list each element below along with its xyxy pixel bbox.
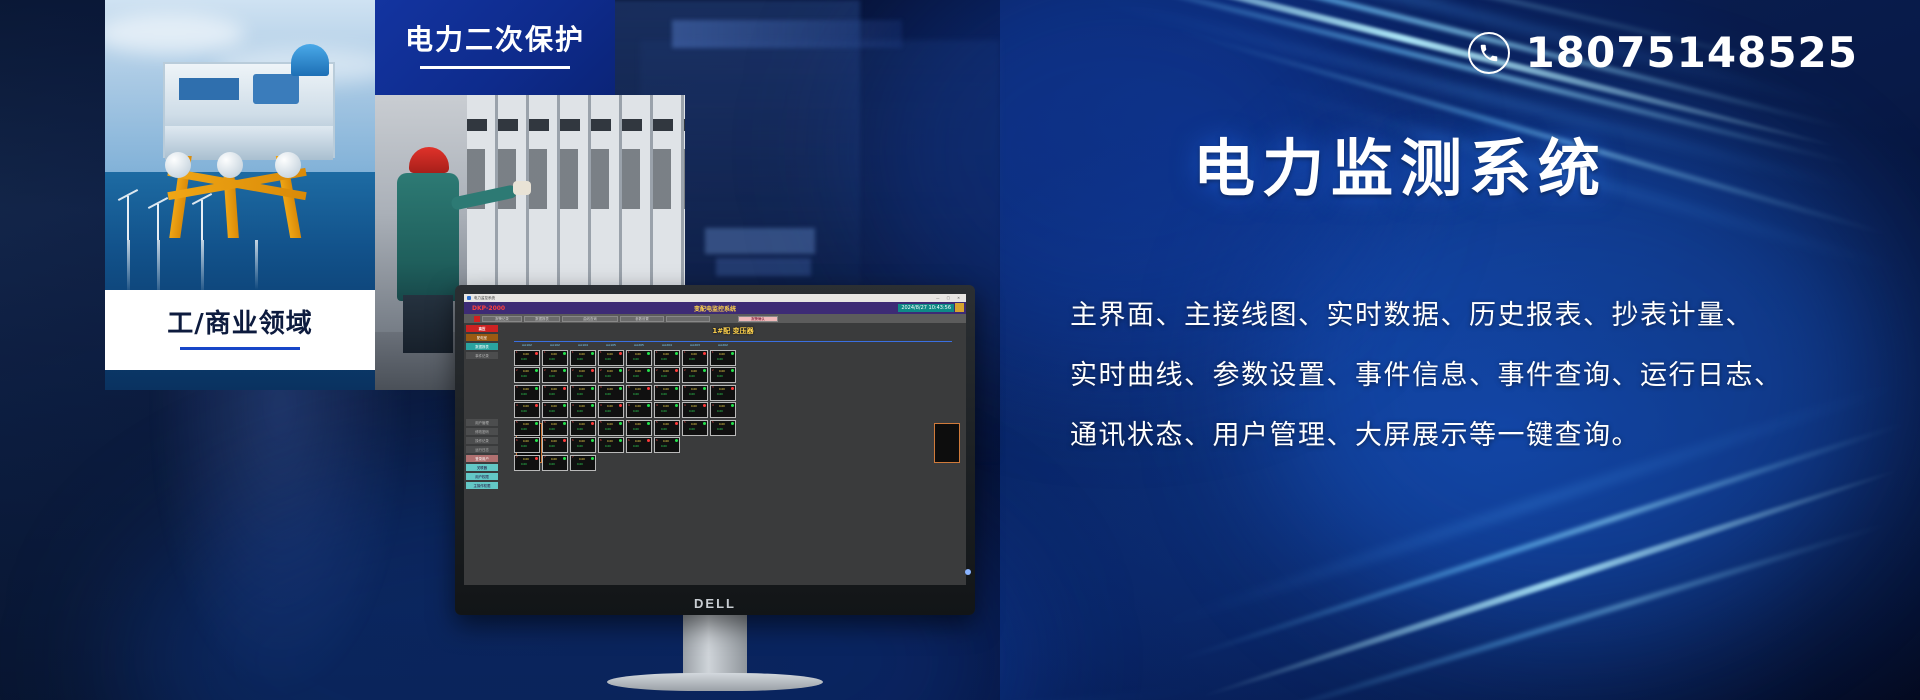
- status-led-icon: [563, 457, 566, 460]
- phone-icon: [1468, 32, 1510, 74]
- device-cell-index: 7: [544, 456, 546, 459]
- device-cell-value: 0.00: [633, 410, 639, 413]
- device-cell[interactable]: 60.000.00: [598, 437, 624, 453]
- status-led-icon: [647, 387, 650, 390]
- device-cell-value: 0.00: [551, 370, 557, 373]
- device-cell-value: 0.00: [691, 405, 697, 408]
- device-cell[interactable]: 30.000.00: [710, 385, 736, 401]
- device-cell[interactable]: 10.000.00: [682, 350, 708, 366]
- device-cell-index: 3: [712, 386, 714, 389]
- device-cell-value: 0.00: [635, 370, 641, 373]
- device-cell-index: 2: [600, 369, 602, 372]
- device-cell-value: 0.00: [717, 428, 723, 431]
- status-led-icon: [675, 404, 678, 407]
- device-cell-index: 1: [544, 351, 546, 354]
- device-cell-index: 2: [684, 369, 686, 372]
- device-column: AA10510.000.0020.000.0030.000.0040.000.0…: [598, 343, 624, 471]
- sidebar-item-change-password[interactable]: 修改密码: [466, 428, 498, 435]
- power-led-icon: [965, 569, 971, 575]
- monitor-brand-label: DELL: [455, 596, 975, 611]
- status-led-icon: [591, 387, 594, 390]
- device-cell-value: 0.00: [663, 405, 669, 408]
- scada-menubar[interactable]: 报警记录 数据报表 曲线查询 参数设置 报警确认: [464, 314, 966, 323]
- device-cell-index: 2: [516, 369, 518, 372]
- status-led-icon: [703, 404, 706, 407]
- device-cell-index: 1: [712, 351, 714, 354]
- status-led-icon: [619, 387, 622, 390]
- device-cell-index: 6: [572, 439, 574, 442]
- device-cell[interactable]: 40.000.00: [626, 402, 652, 418]
- wind-turbine: [201, 200, 203, 240]
- diagram-title: 1#配 变压器: [500, 323, 966, 336]
- device-cell-value: 0.00: [691, 423, 697, 426]
- sidebar-item-user-permission[interactable]: 用户权限: [466, 473, 498, 480]
- device-cell-value: 0.00: [579, 405, 585, 408]
- device-cell[interactable]: 20.000.00: [598, 367, 624, 383]
- device-cell-value: 0.00: [633, 375, 639, 378]
- device-cell[interactable]: 50.000.00: [654, 420, 680, 436]
- device-column: AA20210.000.0020.000.0030.000.0040.000.0…: [710, 343, 736, 471]
- device-column: AA10210.000.0020.000.0030.000.0040.000.0…: [514, 343, 540, 471]
- system-name: 变配电监控系统: [694, 304, 736, 313]
- device-cell[interactable]: 50.000.00: [710, 420, 736, 436]
- device-cell-index: 1: [684, 351, 686, 354]
- label-secondary-protection-text: 电力二次保护: [405, 26, 585, 54]
- device-column-tag: AA104: [570, 343, 596, 347]
- status-led-icon: [647, 369, 650, 372]
- wind-turbine: [157, 204, 159, 240]
- device-cell-value: 0.00: [523, 405, 529, 408]
- device-cell[interactable]: 30.000.00: [654, 385, 680, 401]
- menu-item[interactable]: 数据报表: [524, 316, 560, 322]
- device-cell[interactable]: 60.000.00: [514, 437, 540, 453]
- status-led-icon: [703, 352, 706, 355]
- status-led-icon: [563, 404, 566, 407]
- device-cell-index: 6: [600, 439, 602, 442]
- device-cell-value: 0.00: [549, 445, 555, 448]
- status-led-icon: [731, 404, 734, 407]
- platform-float: [165, 152, 191, 178]
- device-cell[interactable]: 30.000.00: [570, 385, 596, 401]
- scada-sidebar[interactable]: 高压 配电室 数据报表 事件记录 用户管理 修改密码 操作记录 运行日志 登录用…: [464, 323, 500, 585]
- window-controls[interactable]: — □ ✕: [936, 296, 963, 300]
- device-cell-value: 0.00: [523, 440, 529, 443]
- device-column-tag: AA203: [682, 343, 708, 347]
- device-column-tag: AA102: [514, 343, 540, 347]
- status-led-icon: [591, 439, 594, 442]
- device-cell-index: 4: [544, 404, 546, 407]
- scada-application: 电力监控系统 — □ ✕ DKP-2000 变配电监控系统 2024/8/27 …: [464, 294, 966, 585]
- sidebar-item-data-report[interactable]: 数据报表: [466, 343, 498, 350]
- status-led-icon: [535, 369, 538, 372]
- sidebar-item-user-management[interactable]: 用户管理: [466, 419, 498, 426]
- status-led-icon: [619, 369, 622, 372]
- device-cell[interactable]: 40.000.00: [654, 402, 680, 418]
- device-cell-index: 4: [628, 404, 630, 407]
- device-cell[interactable]: 50.000.00: [514, 420, 540, 436]
- device-cell-value: 0.00: [607, 353, 613, 356]
- device-cell[interactable]: 10.000.00: [570, 350, 596, 366]
- device-cell[interactable]: 30.000.00: [598, 385, 624, 401]
- device-cell-index: 1: [572, 351, 574, 354]
- device-cell-value: 0.00: [635, 423, 641, 426]
- status-led-icon: [535, 439, 538, 442]
- device-cell[interactable]: 40.000.00: [542, 402, 568, 418]
- device-cell-value: 0.00: [691, 388, 697, 391]
- datetime-display: 2024/8/27 10:43:56: [898, 304, 954, 312]
- device-cell-index: 4: [572, 404, 574, 407]
- scada-window-titlebar: 电力监控系统 — □ ✕: [464, 294, 966, 302]
- status-led-icon: [591, 404, 594, 407]
- device-cell-index: 3: [656, 386, 658, 389]
- device-cell-value: 0.00: [661, 358, 667, 361]
- device-cell-index: 2: [628, 369, 630, 372]
- status-led-icon: [647, 404, 650, 407]
- device-cell[interactable]: 70.000.00: [570, 455, 596, 471]
- device-cell-value: 0.00: [577, 463, 583, 466]
- device-cell-index: 3: [628, 386, 630, 389]
- device-cell-index: 2: [712, 369, 714, 372]
- sidebar-spacer: [466, 361, 498, 419]
- device-cell-value: 0.00: [635, 388, 641, 391]
- app-icon: [467, 296, 471, 300]
- device-cell-value: 0.00: [719, 388, 725, 391]
- device-cell-value: 0.00: [577, 358, 583, 361]
- company-logo: [955, 303, 964, 312]
- sidebar-item-run-log[interactable]: 运行日志: [466, 446, 498, 453]
- device-cell-value: 0.00: [523, 370, 529, 373]
- device-cell-index: 2: [544, 369, 546, 372]
- device-cell-index: 2: [656, 369, 658, 372]
- device-cell-value: 0.00: [607, 405, 613, 408]
- device-cell[interactable]: 20.000.00: [626, 367, 652, 383]
- status-led-icon: [731, 369, 734, 372]
- device-cell-index: 4: [712, 404, 714, 407]
- device-cell-value: 0.00: [577, 445, 583, 448]
- worker-body: [397, 173, 459, 301]
- device-cell[interactable]: 40.000.00: [682, 402, 708, 418]
- device-cell[interactable]: 20.000.00: [654, 367, 680, 383]
- device-cell-value: 0.00: [661, 428, 667, 431]
- status-led-icon: [647, 352, 650, 355]
- monitor-stand-base: [607, 673, 823, 691]
- worker-hand: [513, 181, 531, 195]
- status-led-icon: [675, 439, 678, 442]
- device-cell-value: 0.00: [635, 353, 641, 356]
- device-cell-value: 0.00: [689, 428, 695, 431]
- device-cell[interactable]: 50.000.00: [598, 420, 624, 436]
- page-title: 电力监测系统: [1193, 118, 1607, 208]
- device-cell-value: 0.00: [717, 393, 723, 396]
- device-cell[interactable]: 20.000.00: [570, 367, 596, 383]
- device-cell-value: 0.00: [579, 423, 585, 426]
- status-led-icon: [731, 422, 734, 425]
- device-cell-value: 0.00: [663, 370, 669, 373]
- status-led-icon: [563, 369, 566, 372]
- device-cell-index: 4: [600, 404, 602, 407]
- menu-item[interactable]: 报警记录: [482, 316, 522, 322]
- device-cell[interactable]: 70.000.00: [542, 455, 568, 471]
- device-cell-value: 0.00: [523, 458, 529, 461]
- device-cell-index: 5: [600, 421, 602, 424]
- device-cell[interactable]: 60.000.00: [626, 437, 652, 453]
- water-reflection: [127, 240, 130, 296]
- monitor-mockup: 电力监控系统 — □ ✕ DKP-2000 变配电监控系统 2024/8/27 …: [455, 285, 975, 615]
- device-cell-value: 0.00: [605, 445, 611, 448]
- device-cell-value: 0.00: [635, 440, 641, 443]
- device-cell-value: 0.00: [521, 375, 527, 378]
- device-cell[interactable]: 40.000.00: [570, 402, 596, 418]
- device-cell-value: 0.00: [579, 370, 585, 373]
- device-cell-value: 0.00: [521, 358, 527, 361]
- device-cell-value: 0.00: [607, 440, 613, 443]
- status-led-icon: [647, 422, 650, 425]
- device-cell-index: 5: [712, 421, 714, 424]
- device-cell-value: 0.00: [607, 370, 613, 373]
- device-cell-value: 0.00: [605, 428, 611, 431]
- device-cell-value: 0.00: [521, 410, 527, 413]
- monitor-stand-neck: [683, 615, 747, 677]
- status-led-icon: [535, 404, 538, 407]
- device-cell-value: 0.00: [691, 353, 697, 356]
- device-column: AA10210.000.0020.000.0030.000.0040.000.0…: [542, 343, 568, 471]
- device-cell[interactable]: 30.000.00: [514, 385, 540, 401]
- device-cell-value: 0.00: [689, 375, 695, 378]
- device-cell-value: 0.00: [521, 428, 527, 431]
- feature-description: 主界面、主接线图、实时数据、历史报表、抄表计量、 实时曲线、参数设置、事件信息、…: [1070, 286, 1870, 466]
- status-led-icon: [535, 457, 538, 460]
- status-led-icon: [563, 387, 566, 390]
- platform-float: [217, 152, 243, 178]
- device-cell-value: 0.00: [717, 375, 723, 378]
- sidebar-item-operation-record[interactable]: 操作记录: [466, 437, 498, 444]
- device-cell-index: 7: [572, 456, 574, 459]
- device-cell-value: 0.00: [633, 358, 639, 361]
- device-cell-value: 0.00: [579, 458, 585, 461]
- device-cell[interactable]: 30.000.00: [682, 385, 708, 401]
- device-cell[interactable]: 10.000.00: [598, 350, 624, 366]
- device-cell-value: 0.00: [577, 375, 583, 378]
- device-cell[interactable]: 60.000.00: [542, 437, 568, 453]
- device-cell-value: 0.00: [719, 353, 725, 356]
- device-cell-index: 4: [656, 404, 658, 407]
- device-cell-index: 1: [656, 351, 658, 354]
- device-column-tag: AA102: [542, 343, 568, 347]
- device-cell-value: 0.00: [663, 388, 669, 391]
- device-cell[interactable]: 10.000.00: [626, 350, 652, 366]
- platform-structure: [163, 62, 335, 158]
- label-secondary-protection: 电力二次保护: [375, 0, 615, 95]
- label-underline: [420, 66, 570, 69]
- menu-item[interactable]: 曲线查询: [562, 316, 618, 322]
- device-cell[interactable]: 10.000.00: [710, 350, 736, 366]
- sidebar-item-event-log[interactable]: 事件记录: [466, 352, 498, 359]
- device-cell[interactable]: 60.000.00: [570, 437, 596, 453]
- device-cell[interactable]: 40.000.00: [598, 402, 624, 418]
- device-cell[interactable]: 20.000.00: [710, 367, 736, 383]
- sidebar-item-device[interactable]: 关联器: [466, 464, 498, 471]
- platform-panel: [179, 78, 239, 100]
- status-led-icon: [647, 439, 650, 442]
- device-cell-index: 4: [516, 404, 518, 407]
- phone-number: 18075148525: [1526, 28, 1858, 77]
- device-cell-value: 0.00: [661, 445, 667, 448]
- sidebar-item-high-voltage[interactable]: 高压: [466, 325, 498, 332]
- menu-item[interactable]: 报警确认: [738, 316, 778, 322]
- device-cell[interactable]: 50.000.00: [626, 420, 652, 436]
- device-cell-value: 0.00: [551, 388, 557, 391]
- device-cell-index: 7: [516, 456, 518, 459]
- device-cell-value: 0.00: [661, 375, 667, 378]
- scada-window-title: 电力监控系统: [474, 296, 495, 301]
- device-cell-value: 0.00: [577, 410, 583, 413]
- device-cell-value: 0.00: [661, 393, 667, 396]
- status-led-icon: [731, 352, 734, 355]
- device-cell-value: 0.00: [579, 388, 585, 391]
- device-cell-value: 0.00: [605, 358, 611, 361]
- sidebar-item-distribution-room[interactable]: 配电室: [466, 334, 498, 341]
- device-cell-value: 0.00: [551, 423, 557, 426]
- device-cell-value: 0.00: [663, 353, 669, 356]
- status-led-icon: [619, 404, 622, 407]
- device-cell-index: 1: [516, 351, 518, 354]
- status-led-icon: [591, 369, 594, 372]
- device-cell-value: 0.00: [689, 358, 695, 361]
- device-cell-value: 0.00: [663, 440, 669, 443]
- device-cell[interactable]: 40.000.00: [710, 402, 736, 418]
- scada-body: 高压 配电室 数据报表 事件记录 用户管理 修改密码 操作记录 运行日志 登录用…: [464, 323, 966, 585]
- sidebar-item-main-permission[interactable]: 主操作权限: [466, 482, 498, 489]
- device-cell-index: 6: [656, 439, 658, 442]
- device-cell-value: 0.00: [579, 353, 585, 356]
- device-cell-index: 3: [572, 386, 574, 389]
- device-cell-value: 0.00: [717, 358, 723, 361]
- label-industrial: 工/商业领域: [105, 290, 375, 370]
- device-cell-value: 0.00: [689, 410, 695, 413]
- device-cell-value: 0.00: [719, 405, 725, 408]
- status-led-icon: [591, 352, 594, 355]
- device-cell-value: 0.00: [549, 358, 555, 361]
- device-cell[interactable]: 10.000.00: [514, 350, 540, 366]
- device-cell[interactable]: 50.000.00: [682, 420, 708, 436]
- device-cell-index: 1: [628, 351, 630, 354]
- device-cell-value: 0.00: [521, 463, 527, 466]
- description-line-1: 主界面、主接线图、实时数据、历史报表、抄表计量、: [1070, 286, 1870, 346]
- device-cell-value: 0.00: [635, 405, 641, 408]
- device-cell[interactable]: 20.000.00: [682, 367, 708, 383]
- device-cell-value: 0.00: [689, 393, 695, 396]
- menu-item[interactable]: 参数设置: [620, 316, 664, 322]
- status-led-icon: [675, 422, 678, 425]
- device-cell-value: 0.00: [719, 423, 725, 426]
- device-cell-value: 0.00: [579, 440, 585, 443]
- device-cell-index: 4: [684, 404, 686, 407]
- platform-panel: [253, 74, 299, 104]
- device-cell-index: 6: [628, 439, 630, 442]
- device-cell-value: 0.00: [577, 393, 583, 396]
- status-led-icon: [619, 439, 622, 442]
- device-cell-index: 2: [572, 369, 574, 372]
- promo-banner: 电力二次保护 工/商业领域 电力监控系统 — □ ✕ DKP-2000 变配电监…: [0, 0, 1920, 700]
- device-column: AA10410.000.0020.000.0030.000.0040.000.0…: [570, 343, 596, 471]
- status-led-icon: [591, 422, 594, 425]
- device-cell[interactable]: 40.000.00: [514, 402, 540, 418]
- device-cell-value: 0.00: [661, 410, 667, 413]
- menu-item[interactable]: [666, 316, 710, 322]
- device-cell-value: 0.00: [605, 393, 611, 396]
- alarm-indicator-icon[interactable]: [474, 316, 480, 322]
- device-cell[interactable]: 50.000.00: [542, 420, 568, 436]
- device-column-tag: AA204: [654, 343, 680, 347]
- label-industrial-text: 工/商业领域: [167, 311, 313, 337]
- description-line-3: 通讯状态、用户管理、大屏展示等一键查询。: [1070, 406, 1870, 466]
- contact-phone[interactable]: 18075148525: [1468, 28, 1858, 77]
- scada-header: DKP-2000 变配电监控系统 2024/8/27 10:43:56: [464, 302, 966, 314]
- status-led-icon: [675, 387, 678, 390]
- device-cell-value: 0.00: [577, 428, 583, 431]
- device-column: AA20510.000.0020.000.0030.000.0040.000.0…: [626, 343, 652, 471]
- busbar-line: [514, 341, 952, 342]
- status-led-icon: [535, 422, 538, 425]
- device-cell[interactable]: 30.000.00: [542, 385, 568, 401]
- device-cell-index: 3: [600, 386, 602, 389]
- status-led-icon: [619, 352, 622, 355]
- status-led-icon: [563, 422, 566, 425]
- platform-deck: [165, 126, 333, 160]
- device-cell[interactable]: 10.000.00: [654, 350, 680, 366]
- device-cell-value: 0.00: [549, 393, 555, 396]
- device-cell-value: 0.00: [549, 375, 555, 378]
- device-cell[interactable]: 20.000.00: [514, 367, 540, 383]
- status-led-icon: [619, 422, 622, 425]
- device-cell-value: 0.00: [607, 423, 613, 426]
- device-cell[interactable]: 20.000.00: [542, 367, 568, 383]
- device-cell-value: 0.00: [717, 410, 723, 413]
- device-cell[interactable]: 70.000.00: [514, 455, 540, 471]
- device-cell[interactable]: 30.000.00: [626, 385, 652, 401]
- device-cell[interactable]: 60.000.00: [654, 437, 680, 453]
- sidebar-item-login-user[interactable]: 登录用户: [466, 455, 498, 462]
- status-led-icon: [731, 387, 734, 390]
- status-led-icon: [535, 387, 538, 390]
- device-cell-index: 3: [516, 386, 518, 389]
- platform-dome: [291, 44, 329, 76]
- device-cell-index: 5: [572, 421, 574, 424]
- status-led-icon: [675, 369, 678, 372]
- device-cell-index: 5: [516, 421, 518, 424]
- product-code: DKP-2000: [464, 305, 505, 312]
- device-cell-value: 0.00: [523, 353, 529, 356]
- device-cell-value: 0.00: [551, 353, 557, 356]
- status-led-icon: [675, 352, 678, 355]
- device-cell-value: 0.00: [633, 393, 639, 396]
- worker-helmet: [409, 147, 449, 173]
- label-underline: [180, 347, 300, 350]
- device-cell-index: 5: [544, 421, 546, 424]
- device-cell-value: 0.00: [551, 458, 557, 461]
- device-cell[interactable]: 10.000.00: [542, 350, 568, 366]
- device-cell-value: 0.00: [523, 388, 529, 391]
- device-column-tag: AA202: [710, 343, 736, 347]
- device-cell-value: 0.00: [691, 370, 697, 373]
- device-cell[interactable]: 50.000.00: [570, 420, 596, 436]
- status-led-icon: [703, 369, 706, 372]
- status-led-icon: [563, 352, 566, 355]
- device-column-tag: AA205: [626, 343, 652, 347]
- device-cell-value: 0.00: [719, 370, 725, 373]
- device-column: AA20310.000.0020.000.0030.000.0040.000.0…: [682, 343, 708, 471]
- monitor-bezel: 电力监控系统 — □ ✕ DKP-2000 变配电监控系统 2024/8/27 …: [455, 285, 975, 615]
